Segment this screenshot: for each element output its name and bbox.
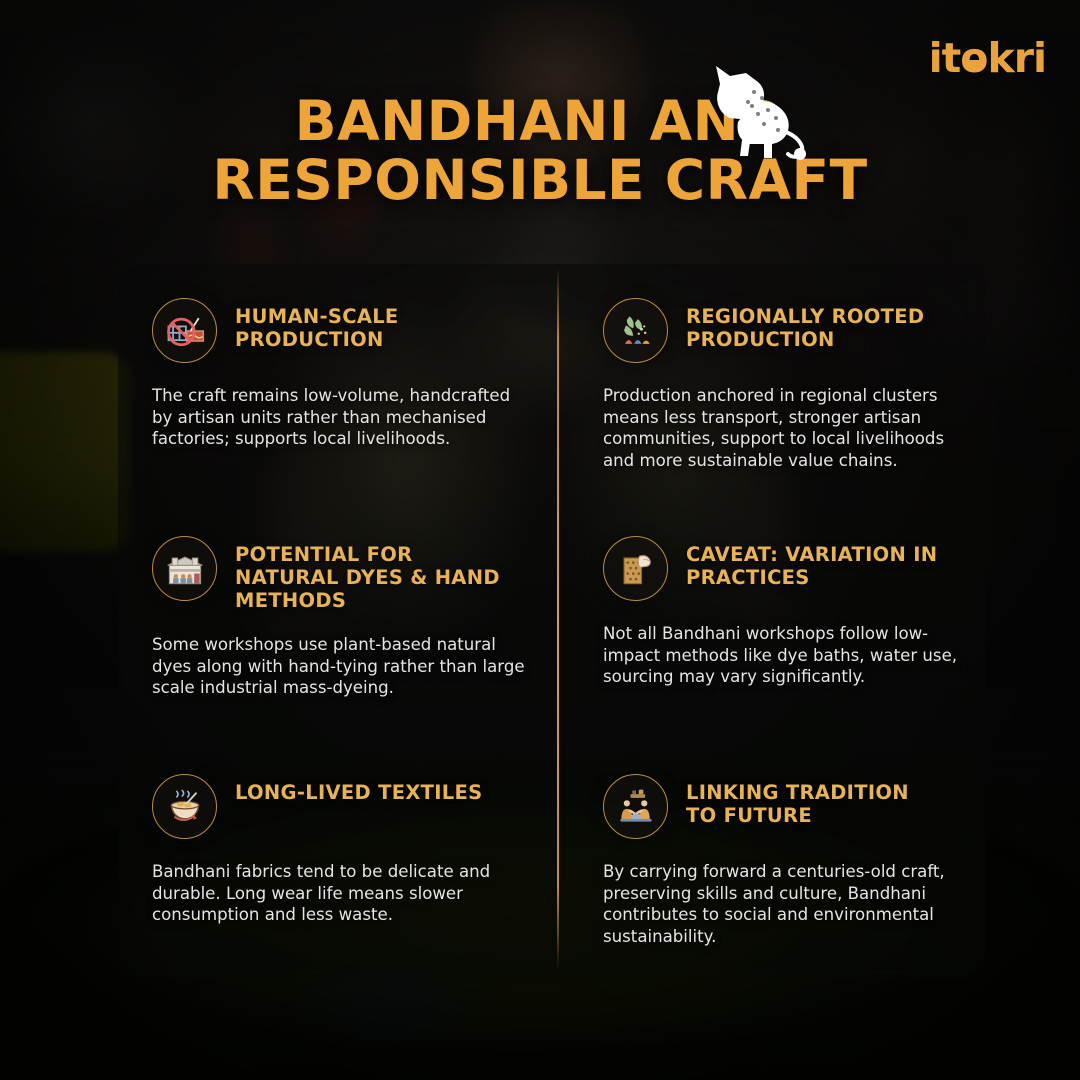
- card-title: REGIONALLY ROOTED PRODUCTION: [686, 298, 946, 351]
- card-title: HUMAN-SCALE PRODUCTION: [235, 298, 505, 351]
- card-body: Bandhani fabrics tend to be delicate and…: [152, 861, 529, 926]
- hand-holding-fabric-swatch-icon: [603, 536, 668, 601]
- steaming-dye-pot-icon: [152, 774, 217, 839]
- card-header: HUMAN-SCALE PRODUCTION: [152, 298, 529, 363]
- card-header: POTENTIAL FOR NATURAL DYES & HAND METHOD…: [152, 536, 529, 612]
- craft-workshop-building-icon: [152, 536, 217, 601]
- card-title: LINKING TRADITION TO FUTURE: [686, 774, 946, 827]
- card-body: The craft remains low-volume, handcrafte…: [152, 385, 529, 450]
- brand-logo[interactable]: itokri: [929, 38, 1046, 79]
- card-body: By carrying forward a centuries-old craf…: [603, 861, 964, 947]
- card-title: POTENTIAL FOR NATURAL DYES & HAND METHOD…: [235, 536, 505, 612]
- brand-logo-text: itokri: [929, 38, 1046, 79]
- card-header: CAVEAT: VARIATION IN PRACTICES: [603, 536, 964, 601]
- card-header: REGIONALLY ROOTED PRODUCTION: [603, 298, 964, 363]
- poster-title-line1: BANDHANI AND: [140, 92, 940, 151]
- feature-card-regionally-rooted-production: REGIONALLY ROOTED PRODUCTION Production …: [557, 264, 986, 502]
- feature-card-natural-dyes-hand-methods: POTENTIAL FOR NATURAL DYES & HAND METHOD…: [118, 502, 557, 740]
- infographic-poster: itokri BANDHANI AND RESPONSIBLE CRAFT: [0, 0, 1080, 1080]
- feature-grid: HUMAN-SCALE PRODUCTION The craft remains…: [118, 264, 986, 978]
- natural-dye-leaves-icon: [603, 298, 668, 363]
- card-body: Not all Bandhani workshops follow low-im…: [603, 623, 964, 688]
- no-factory-icon: [152, 298, 217, 363]
- card-body: Production anchored in regional clusters…: [603, 385, 964, 471]
- two-artisans-icon: [603, 774, 668, 839]
- card-header: LINKING TRADITION TO FUTURE: [603, 774, 964, 839]
- feature-card-long-lived-textiles: LONG-LIVED TEXTILES Bandhani fabrics ten…: [118, 740, 557, 978]
- poster-title-block: BANDHANI AND RESPONSIBLE CRAFT: [0, 92, 1080, 211]
- card-title: CAVEAT: VARIATION IN PRACTICES: [686, 536, 946, 589]
- card-title: LONG-LIVED TEXTILES: [235, 774, 483, 804]
- feature-card-caveat-variation: CAVEAT: VARIATION IN PRACTICES Not all B…: [557, 502, 986, 740]
- feature-card-linking-tradition-future: LINKING TRADITION TO FUTURE By carrying …: [557, 740, 986, 978]
- poster-title-line2: RESPONSIBLE CRAFT: [140, 151, 940, 210]
- card-header: LONG-LIVED TEXTILES: [152, 774, 529, 839]
- cat-icon: [690, 58, 810, 162]
- poster-title: BANDHANI AND RESPONSIBLE CRAFT: [0, 92, 1080, 211]
- card-body: Some workshops use plant-based natural d…: [152, 634, 529, 699]
- feature-card-human-scale-production: HUMAN-SCALE PRODUCTION The craft remains…: [118, 264, 557, 502]
